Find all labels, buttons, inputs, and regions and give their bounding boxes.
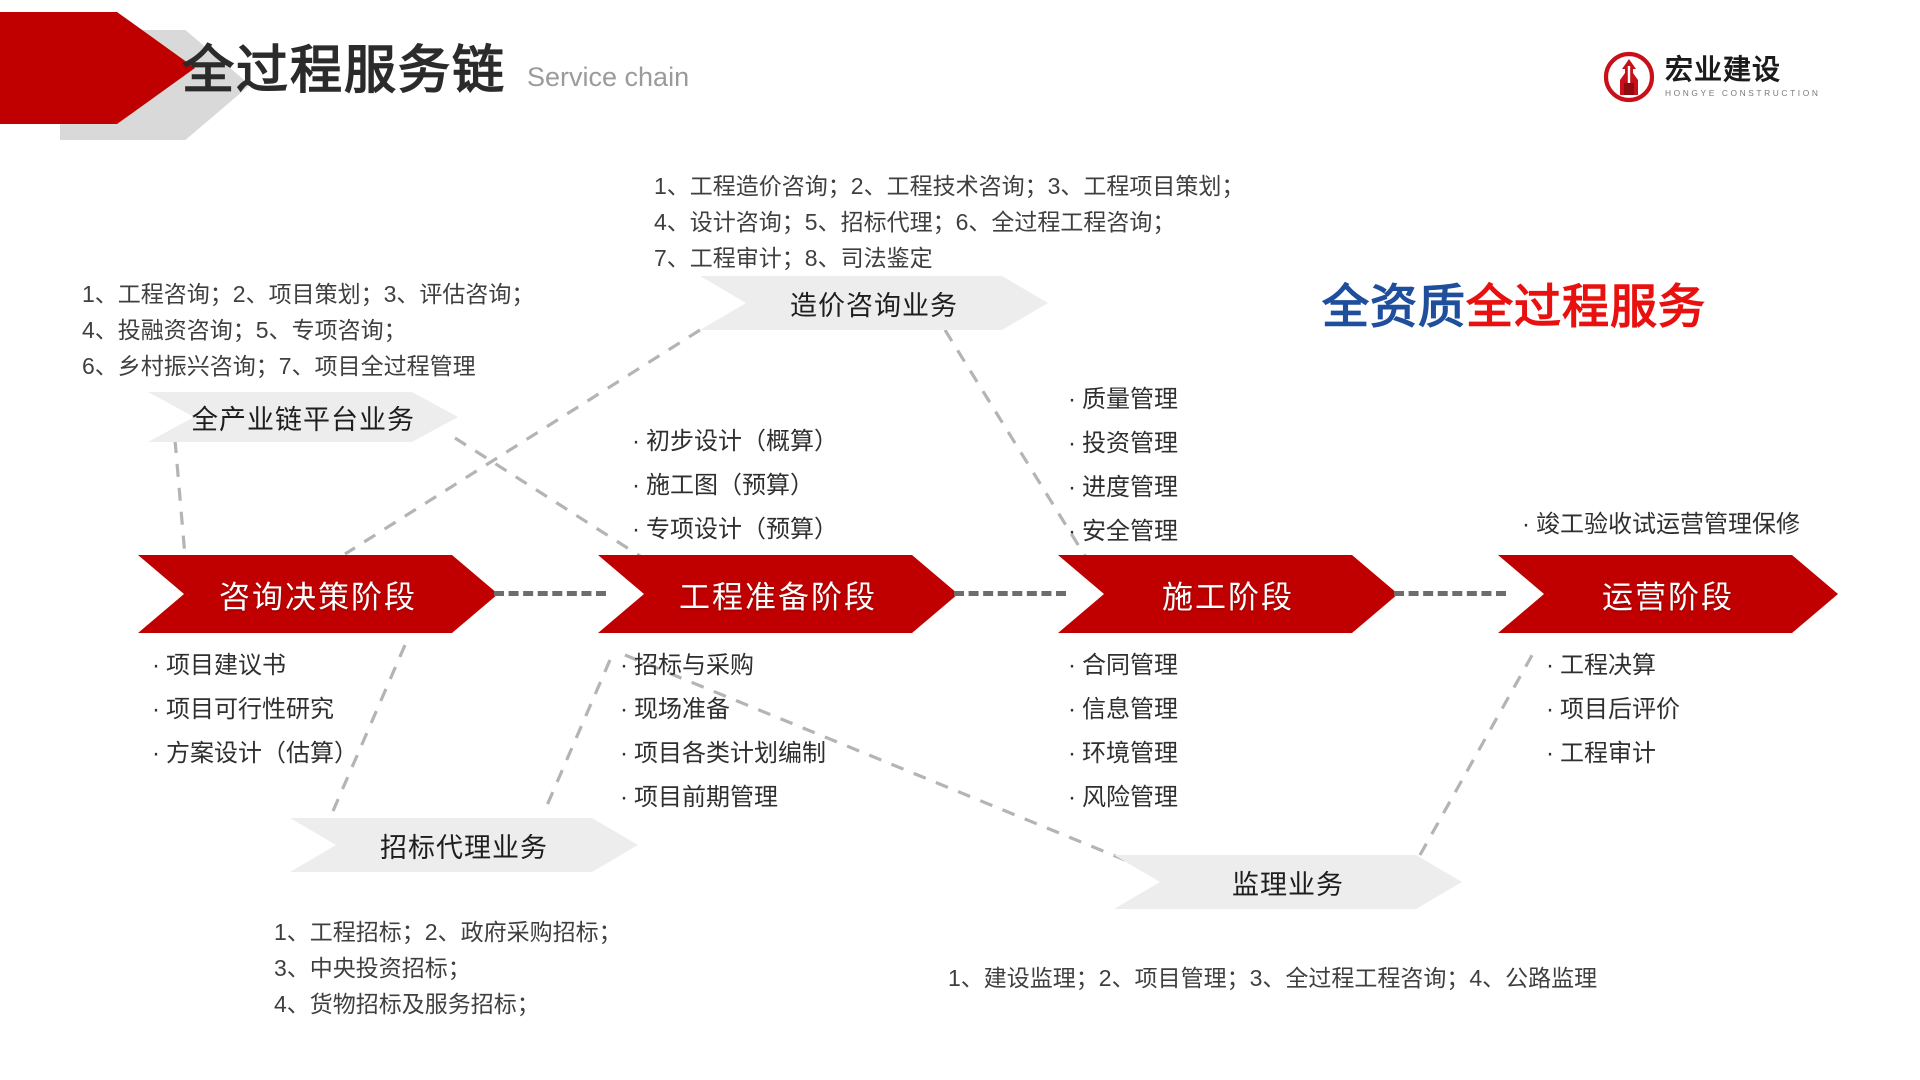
- bullet-dot-icon: ·: [620, 780, 634, 816]
- page-subtitle: Service chain: [527, 62, 689, 93]
- bullet-dot-icon: ·: [1546, 648, 1560, 684]
- slogan-blue-text: 全资质: [1322, 280, 1466, 333]
- note-line: 3、中央投资招标；: [274, 950, 622, 986]
- bullet-dot-icon: ·: [1068, 382, 1082, 418]
- bullet-dot-icon: ·: [1068, 692, 1082, 728]
- bullets-acceptance-above-stage4: ·竣工验收试运营管理保修: [1522, 507, 1800, 551]
- bullet-item: ·进度管理: [1068, 470, 1178, 506]
- stage-label: 运营阶段: [1602, 572, 1734, 617]
- note-line: 4、货物招标及服务招标；: [274, 986, 622, 1022]
- note-line: 4、设计咨询；5、招标代理；6、全过程工程咨询；: [654, 204, 1244, 240]
- bullet-item: ·安全管理: [1068, 514, 1178, 550]
- logo-name-cn: 宏业建设: [1665, 56, 1821, 84]
- bullet-item: ·工程审计: [1546, 736, 1680, 772]
- stage-connector-3-4: [1394, 591, 1506, 596]
- stage-label: 施工阶段: [1162, 572, 1294, 617]
- bullet-item: ·信息管理: [1068, 692, 1178, 728]
- bullet-dot-icon: ·: [1546, 692, 1560, 728]
- bullet-label: 质量管理: [1082, 386, 1178, 413]
- logo-emblem-icon: [1602, 50, 1656, 104]
- note-bidding-agency: 1、工程招标；2、政府采购招标； 3、中央投资招标； 4、货物招标及服务招标；: [274, 914, 622, 1022]
- bullet-dot-icon: ·: [620, 736, 634, 772]
- bullet-item: ·初步设计（概算）: [632, 424, 838, 460]
- bullets-stage1-below: ·项目建议书 ·项目可行性研究 ·方案设计（估算）: [152, 648, 358, 780]
- bullet-item: ·投资管理: [1068, 426, 1178, 462]
- bullet-dot-icon: ·: [1068, 780, 1082, 816]
- bullet-item: ·现场准备: [620, 692, 826, 728]
- bullet-item: ·项目后评价: [1546, 692, 1680, 728]
- note-line: 6、乡村振兴咨询；7、项目全过程管理: [82, 348, 534, 384]
- bullet-item: ·招标与采购: [620, 648, 826, 684]
- bullets-stage4-below: ·工程决算 ·项目后评价 ·工程审计: [1546, 648, 1680, 780]
- bullet-item: ·合同管理: [1068, 648, 1178, 684]
- bullet-label: 安全管理: [1082, 518, 1178, 545]
- bullet-dot-icon: ·: [632, 468, 646, 504]
- bullet-label: 项目建议书: [166, 652, 286, 679]
- company-logo: 宏业建设 HONGYE CONSTRUCTION: [1602, 46, 1872, 108]
- stage-1-consulting-decision[interactable]: 咨询决策阶段: [138, 555, 498, 633]
- stage-label: 工程准备阶段: [679, 572, 877, 617]
- banner-cost-consulting[interactable]: 造价咨询业务: [700, 276, 1048, 330]
- note-line: 1、工程造价咨询；2、工程技术咨询；3、工程项目策划；: [654, 168, 1244, 204]
- bullet-dot-icon: ·: [1068, 426, 1082, 462]
- stage-label: 咨询决策阶段: [219, 572, 417, 617]
- bullet-dot-icon: ·: [620, 692, 634, 728]
- bullet-dot-icon: ·: [1068, 514, 1082, 550]
- stage-2-project-preparation[interactable]: 工程准备阶段: [598, 555, 958, 633]
- banner-label: 全产业链平台业务: [191, 398, 415, 437]
- bullet-dot-icon: ·: [1522, 507, 1536, 543]
- slogan-red-text: 全过程服务: [1466, 280, 1706, 333]
- bullets-stage2-below: ·招标与采购 ·现场准备 ·项目各类计划编制 ·项目前期管理: [620, 648, 826, 824]
- bullet-item: ·竣工验收试运营管理保修: [1522, 507, 1800, 543]
- bullet-dot-icon: ·: [152, 736, 166, 772]
- note-line: 1、工程咨询；2、项目策划；3、评估咨询；: [82, 276, 534, 312]
- bullet-item: ·质量管理: [1068, 382, 1178, 418]
- banner-label: 招标代理业务: [380, 826, 548, 865]
- bullet-label: 项目前期管理: [634, 784, 778, 811]
- bullet-dot-icon: ·: [1068, 736, 1082, 772]
- bullet-label: 施工图（预算）: [646, 472, 814, 499]
- note-line: 1、工程招标；2、政府采购招标；: [274, 914, 622, 950]
- note-supervision: 1、建设监理；2、项目管理；3、全过程工程咨询；4、公路监理: [948, 960, 1597, 996]
- bullet-item: ·项目可行性研究: [152, 692, 358, 728]
- bullet-label: 项目各类计划编制: [634, 740, 826, 767]
- bullet-item: ·项目各类计划编制: [620, 736, 826, 772]
- note-line: 7、工程审计；8、司法鉴定: [654, 240, 1244, 276]
- bullet-label: 项目可行性研究: [166, 696, 334, 723]
- bullets-stage3-below: ·合同管理 ·信息管理 ·环境管理 ·风险管理: [1068, 648, 1178, 824]
- page-title: 全过程服务链: [182, 40, 506, 102]
- bullet-label: 工程决算: [1560, 652, 1656, 679]
- logo-name-en: HONGYE CONSTRUCTION: [1665, 89, 1821, 97]
- bullet-dot-icon: ·: [1068, 470, 1082, 506]
- banner-label: 造价咨询业务: [790, 284, 958, 323]
- note-platform: 1、工程咨询；2、项目策划；3、评估咨询； 4、投融资咨询；5、专项咨询； 6、…: [82, 276, 534, 384]
- bullet-dot-icon: ·: [632, 424, 646, 460]
- bullets-management-above-stage3: ·质量管理 ·投资管理 ·进度管理 ·安全管理: [1068, 382, 1178, 558]
- banner-platform[interactable]: 全产业链平台业务: [148, 392, 458, 442]
- banner-bidding-agency[interactable]: 招标代理业务: [290, 818, 638, 872]
- bullets-design-above-stage2: ·初步设计（概算） ·施工图（预算） ·专项设计（预算）: [632, 424, 838, 556]
- stage-4-operation[interactable]: 运营阶段: [1498, 555, 1838, 633]
- bullet-label: 竣工验收试运营管理保修: [1536, 511, 1800, 538]
- bullet-label: 现场准备: [634, 696, 730, 723]
- bullet-dot-icon: ·: [620, 648, 634, 684]
- bullet-dot-icon: ·: [152, 648, 166, 684]
- bullet-label: 初步设计（概算）: [646, 428, 838, 455]
- bullet-label: 项目后评价: [1560, 696, 1680, 723]
- bullet-item: ·项目建议书: [152, 648, 358, 684]
- note-line: 1、建设监理；2、项目管理；3、全过程工程咨询；4、公路监理: [948, 960, 1597, 996]
- bullet-item: ·工程决算: [1546, 648, 1680, 684]
- bullet-label: 信息管理: [1082, 696, 1178, 723]
- bullet-label: 合同管理: [1082, 652, 1178, 679]
- bullet-item: ·方案设计（估算）: [152, 736, 358, 772]
- bullet-dot-icon: ·: [1546, 736, 1560, 772]
- slide-root: 全过程服务链 Service chain 宏业建设 HONGYE CONSTRU…: [0, 0, 1920, 1080]
- note-line: 4、投融资咨询；5、专项咨询；: [82, 312, 534, 348]
- stage-connector-1-2: [494, 591, 606, 596]
- bullet-item: ·施工图（预算）: [632, 468, 838, 504]
- bullet-dot-icon: ·: [632, 512, 646, 548]
- banner-supervision[interactable]: 监理业务: [1114, 855, 1462, 909]
- stage-3-construction[interactable]: 施工阶段: [1058, 555, 1398, 633]
- note-cost-consulting: 1、工程造价咨询；2、工程技术咨询；3、工程项目策划； 4、设计咨询；5、招标代…: [654, 168, 1244, 276]
- stage-connector-2-3: [954, 591, 1066, 596]
- bullet-label: 投资管理: [1082, 430, 1178, 457]
- bullet-item: ·环境管理: [1068, 736, 1178, 772]
- bullet-item: ·项目前期管理: [620, 780, 826, 816]
- bullet-dot-icon: ·: [1068, 648, 1082, 684]
- bullet-label: 进度管理: [1082, 474, 1178, 501]
- bullet-item: ·风险管理: [1068, 780, 1178, 816]
- banner-label: 监理业务: [1232, 863, 1344, 902]
- bullet-item: ·专项设计（预算）: [632, 512, 838, 548]
- bullet-label: 专项设计（预算）: [646, 516, 838, 543]
- slogan: 全资质全过程服务: [1322, 279, 1706, 335]
- bullet-label: 环境管理: [1082, 740, 1178, 767]
- bullet-label: 招标与采购: [634, 652, 754, 679]
- bullet-label: 风险管理: [1082, 784, 1178, 811]
- bullet-label: 工程审计: [1560, 740, 1656, 767]
- bullet-label: 方案设计（估算）: [166, 740, 358, 767]
- bullet-dot-icon: ·: [152, 692, 166, 728]
